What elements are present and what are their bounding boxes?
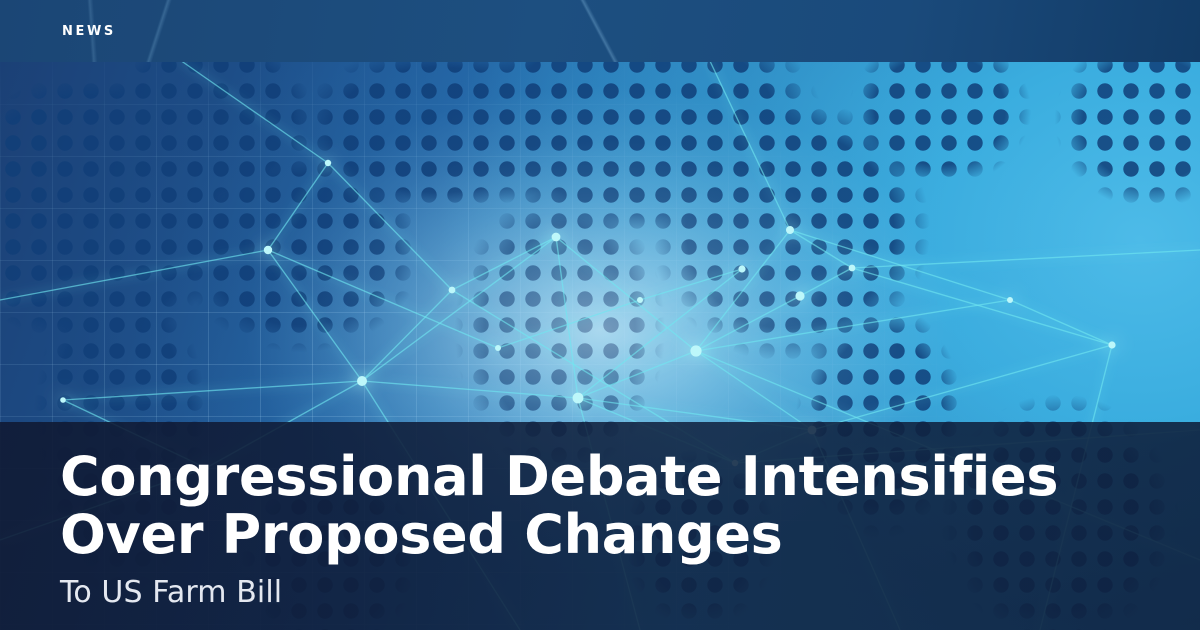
top-band: NEWS [0,0,1200,62]
news-banner: NEWS Congressional Debate Intensifies Ov… [0,0,1200,630]
headline-block: Congressional Debate Intensifies Over Pr… [60,448,1140,610]
category-eyebrow: NEWS [62,24,116,40]
page-title: Congressional Debate Intensifies Over Pr… [60,448,1070,564]
page-subtitle: To US Farm Bill [60,576,1140,610]
